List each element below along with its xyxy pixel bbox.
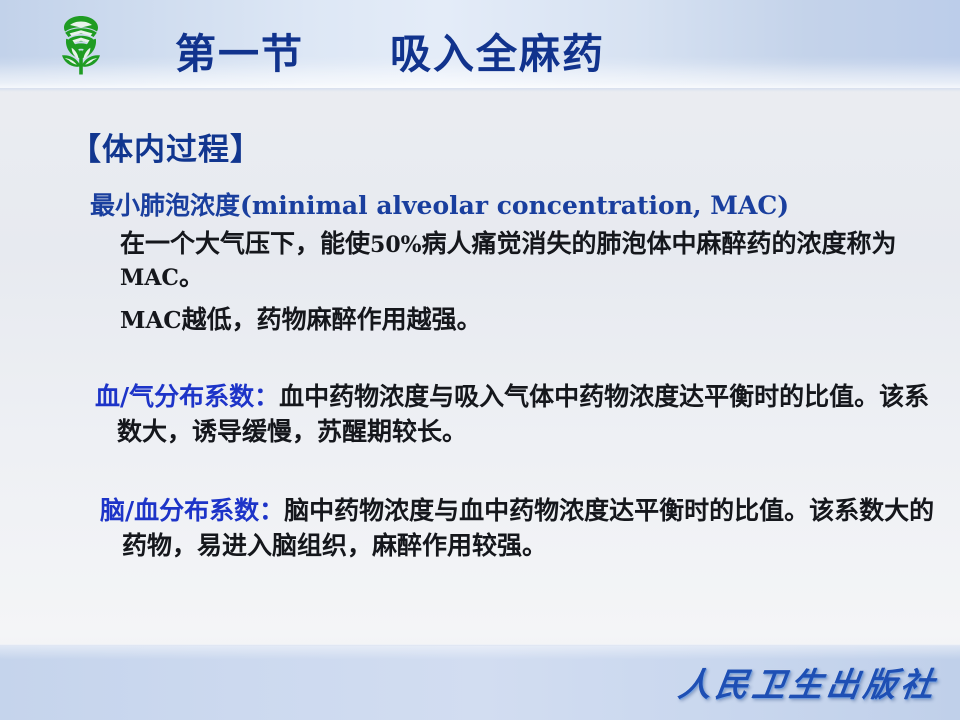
header-underline xyxy=(0,88,960,92)
mac-definition-paragraph: 在一个大气压下，能使50%病人痛觉消失的肺泡体中麻醉药的浓度称为MAC。 xyxy=(120,228,920,293)
section-heading: 【体内过程】 xyxy=(70,124,262,169)
content-area: 【体内过程】 最小肺泡浓度(minimal alveolar concentra… xyxy=(0,96,960,640)
mac-term-line: 最小肺泡浓度(minimal alveolar concentration, M… xyxy=(90,186,950,222)
mac-note-text: 越低，药物麻醉作用越强。 xyxy=(182,305,482,334)
blood-gas-coefficient-paragraph: 血/气分布系数：血中药物浓度与吸入气体中药物浓度达平衡时的比值。该系数大，诱导缓… xyxy=(95,380,935,449)
brain-blood-coefficient-paragraph: 脑/血分布系数：脑中药物浓度与血中药物浓度达平衡时的比值。该系数大的药物，易进入… xyxy=(100,494,940,563)
blood-gas-key: 血/气分布系数 xyxy=(95,382,254,411)
mac-term-cn: 最小肺泡浓度 xyxy=(90,191,240,220)
slide: 第一节 吸入全麻药 【体内过程】 最小肺泡浓度(minimal alveolar… xyxy=(0,0,960,720)
mac-term-en: (minimal alveolar concentration, MAC) xyxy=(240,191,789,220)
brain-blood-separator: ： xyxy=(259,496,284,525)
brain-blood-key: 脑/血分布系数 xyxy=(100,496,259,525)
mac-definition-abbr: MAC xyxy=(120,265,179,291)
publisher-logo-text: 人民卫生出版社 xyxy=(676,658,942,706)
mac-definition-percent: 50% xyxy=(370,232,422,258)
mac-definition-end: 。 xyxy=(179,262,204,291)
mac-definition-part2: 病人痛觉消失的肺泡体中麻醉药的浓度称为 xyxy=(422,229,897,258)
page-title: 第一节 吸入全麻药 xyxy=(0,20,960,80)
mac-note-abbr: MAC xyxy=(120,307,182,334)
mac-definition-part1: 在一个大气压下，能使 xyxy=(120,229,370,258)
mac-note-paragraph: MAC越低，药物麻醉作用越强。 xyxy=(120,304,920,337)
blood-gas-separator: ： xyxy=(254,382,279,411)
